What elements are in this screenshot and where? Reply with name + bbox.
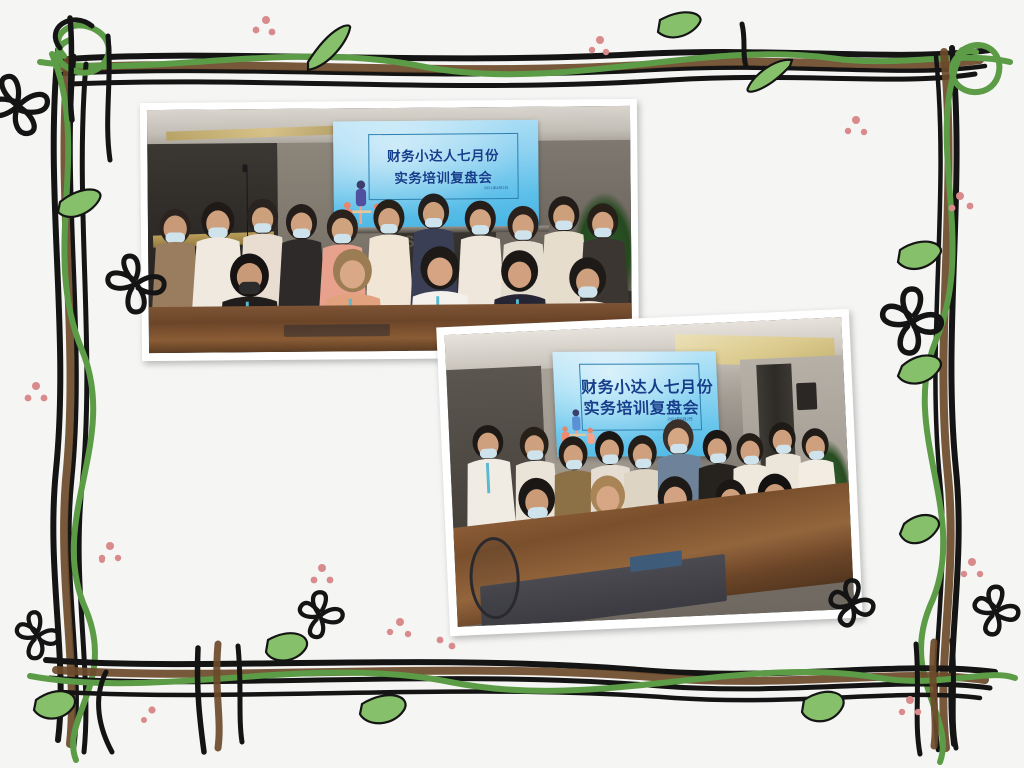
photo-1-image: 财务小达人七月份 实务培训复盘会 2021年8月2日 SSC: [147, 106, 632, 353]
dot-cluster: [99, 542, 121, 561]
dot-cluster: [141, 706, 156, 723]
dot-cluster: [99, 557, 333, 583]
dot-cluster: [961, 558, 983, 577]
photo-2-wheelchair: [464, 494, 565, 621]
dot-cluster: [25, 382, 48, 401]
photo-1-slide-line2: 实务培训复盘会: [369, 166, 517, 187]
dot-cluster: [387, 618, 411, 637]
photo-card-2[interactable]: 财务小达人七月份 实务培训复盘会 2021年8月2日: [436, 309, 863, 636]
frame-right-strokes: [921, 48, 962, 762]
photo-2-image: 财务小达人七月份 实务培训复盘会 2021年8月2日: [445, 317, 855, 627]
dot-cluster: [253, 16, 276, 35]
photo-2-slide-line1: 财务小达人七月份: [581, 373, 701, 397]
collage-canvas: 财务小达人七月份 实务培训复盘会 2021年8月2日 SSC: [0, 0, 1024, 768]
dot-cluster: [845, 116, 867, 135]
dot-cluster: [949, 192, 974, 211]
frame-bottom-strokes: [30, 660, 1015, 700]
dot-cluster: [899, 696, 921, 715]
photo-1-slide-line1: 财务小达人七月份: [369, 144, 517, 165]
photo-2-wheelchair-wheel: [468, 536, 521, 620]
frame-top-strokes: [40, 50, 1010, 86]
frame-left-strokes: [52, 50, 95, 760]
dot-cluster: [589, 36, 609, 55]
dot-cluster: [437, 637, 456, 650]
